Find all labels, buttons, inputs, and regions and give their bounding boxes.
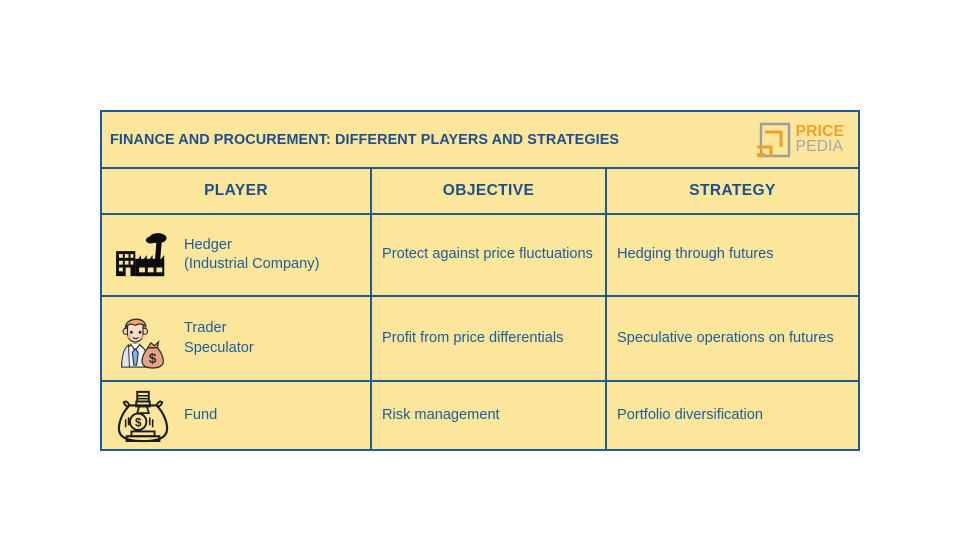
player-label: Trader Speculator <box>184 319 254 358</box>
table-row: Hedger (Industrial Company) Protect agai… <box>102 215 858 297</box>
player-label: Hedger (Industrial Company) <box>184 236 319 275</box>
comparison-table: FINANCE AND PROCUREMENT: DIFFERENT PLAYE… <box>100 110 860 451</box>
cell-objective: Risk management <box>372 382 607 449</box>
column-header-player: PLAYER <box>102 169 372 213</box>
column-header-objective: OBJECTIVE <box>372 169 607 213</box>
page-title: FINANCE AND PROCUREMENT: DIFFERENT PLAYE… <box>110 132 755 148</box>
cell-strategy: Portfolio diversification <box>607 382 858 449</box>
factory-icon <box>110 225 176 285</box>
cell-player: Hedger (Industrial Company) <box>102 215 372 295</box>
cell-player: $ Trader Speculator <box>102 297 372 380</box>
table-title-row: FINANCE AND PROCUREMENT: DIFFERENT PLAYE… <box>102 112 858 169</box>
cell-strategy: Hedging through futures <box>607 215 858 295</box>
logo-wordmark: PRICE PEDIA <box>796 125 844 155</box>
pricepedia-logo: PRICE PEDIA <box>755 120 852 160</box>
pricepedia-logo-icon <box>755 120 793 160</box>
player-label: Fund <box>184 406 217 425</box>
svg-text:$: $ <box>149 351 157 366</box>
table-header-row: PLAYER OBJECTIVE STRATEGY <box>102 169 858 215</box>
money-bag-fund-icon: $ <box>110 386 176 446</box>
cell-player: $ Fund <box>102 382 372 449</box>
column-header-strategy: STRATEGY <box>607 169 858 213</box>
cell-objective: Profit from price differentials <box>372 297 607 380</box>
svg-text:$: $ <box>135 417 142 429</box>
cell-objective: Protect against price fluctuations <box>372 215 607 295</box>
logo-secondary-text: PEDIA <box>796 140 844 155</box>
table-row: $ Fund Risk management Portfolio diversi… <box>102 382 858 449</box>
trader-with-money-bag-icon: $ <box>110 309 176 369</box>
cell-strategy: Speculative operations on futures <box>607 297 858 380</box>
slide-canvas: FINANCE AND PROCUREMENT: DIFFERENT PLAYE… <box>0 0 960 540</box>
table-row: $ Trader Speculator Profit from price di… <box>102 297 858 382</box>
